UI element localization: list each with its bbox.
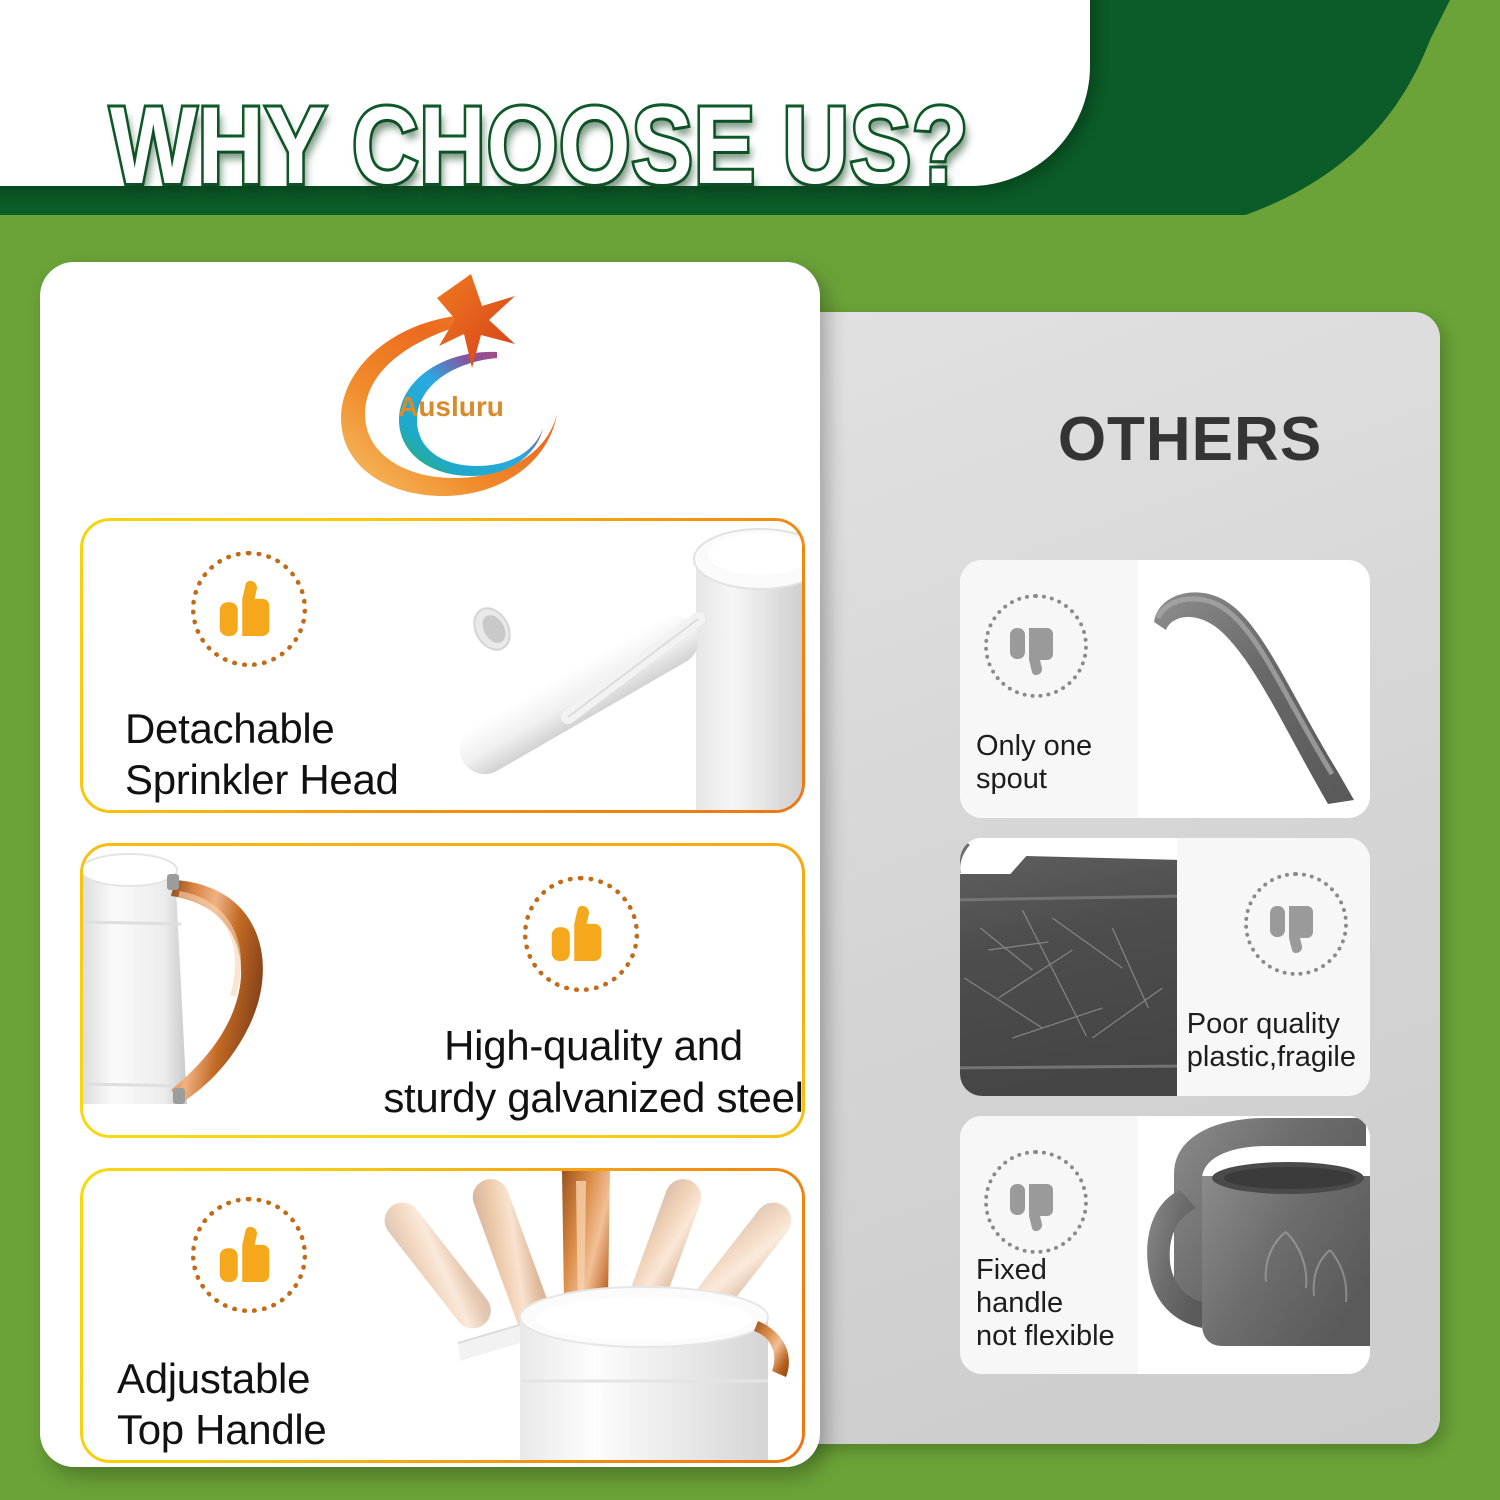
feature-label: Adjustable Top Handle [117,1353,483,1455]
thumbs-up-icon [523,876,639,992]
feature-label: Detachable Sprinkler Head [125,703,503,805]
other-item-card[interactable]: Fixed handle not flexible [960,1116,1370,1374]
brand-name: Ausluru [398,391,504,422]
other-card-text-side: Poor quality plastic,fragile [1177,838,1370,1096]
feature-photo-copper-handle [83,846,383,1135]
other-item-card[interactable]: Poor quality plastic,fragile [960,838,1370,1096]
feature-card-inner: Detachable Sprinkler Head [83,521,802,810]
feature-card-inner: High-quality and sturdy galvanized steel [83,846,802,1135]
feature-text-side: Adjustable Top Handle [83,1171,483,1460]
feature-card[interactable]: Detachable Sprinkler Head [80,518,805,813]
page-title: WHY CHOOSE US? [110,84,969,210]
feature-text-side: Detachable Sprinkler Head [83,521,503,810]
thumbs-up-icon [191,1197,307,1313]
thumbs-up-icon [191,551,307,667]
brand-logo: Ausluru [325,272,575,502]
feature-card-inner: Adjustable Top Handle [83,1171,802,1460]
other-card-photo-spout [1138,560,1370,818]
thumbs-down-icon [984,594,1088,698]
other-card-label: Only one spout [960,730,1138,796]
thumbs-down-icon [1244,872,1348,976]
other-card-text-side: Fixed handle not flexible [960,1116,1138,1374]
other-card-photo-plastic [960,838,1177,1096]
thumbs-down-icon [984,1150,1088,1254]
feature-card[interactable]: Adjustable Top Handle [80,1168,805,1463]
other-card-photo-can [1138,1116,1370,1374]
other-item-card[interactable]: Only one spout [960,560,1370,818]
other-card-text-side: Only one spout [960,560,1138,818]
feature-label: High-quality and sturdy galvanized steel [381,1020,802,1122]
other-card-label: Poor quality plastic,fragile [1177,1008,1370,1074]
others-title: OTHERS [1040,404,1340,475]
feature-card[interactable]: High-quality and sturdy galvanized steel [80,843,805,1138]
infographic-page: WHY CHOOSE US? OTHERS Only one spout [0,0,1500,1500]
other-card-label: Fixed handle not flexible [960,1254,1138,1353]
feature-text-side: High-quality and sturdy galvanized steel [383,846,802,1135]
